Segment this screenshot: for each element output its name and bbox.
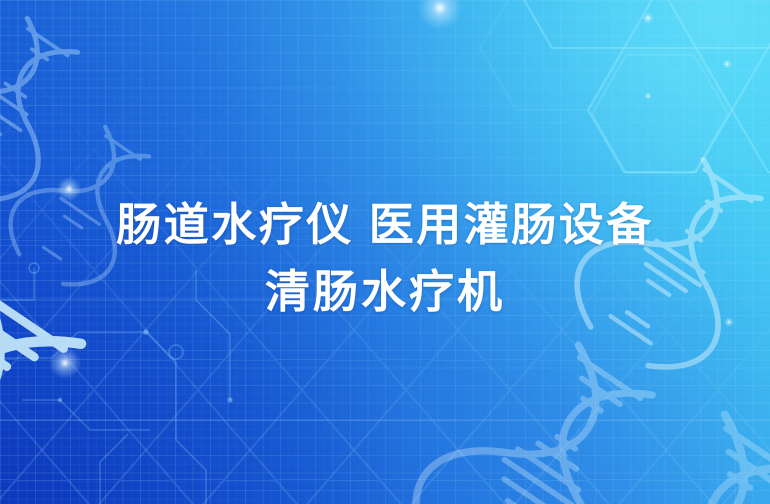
promotional-banner: 肠道水疗仪 医用灌肠设备 清肠水疗机 <box>0 0 770 504</box>
banner-title: 肠道水疗仪 医用灌肠设备 清肠水疗机 <box>0 0 770 504</box>
banner-title-line-1: 肠道水疗仪 医用灌肠设备 <box>116 192 654 259</box>
banner-title-line-2: 清肠水疗机 <box>265 259 505 326</box>
